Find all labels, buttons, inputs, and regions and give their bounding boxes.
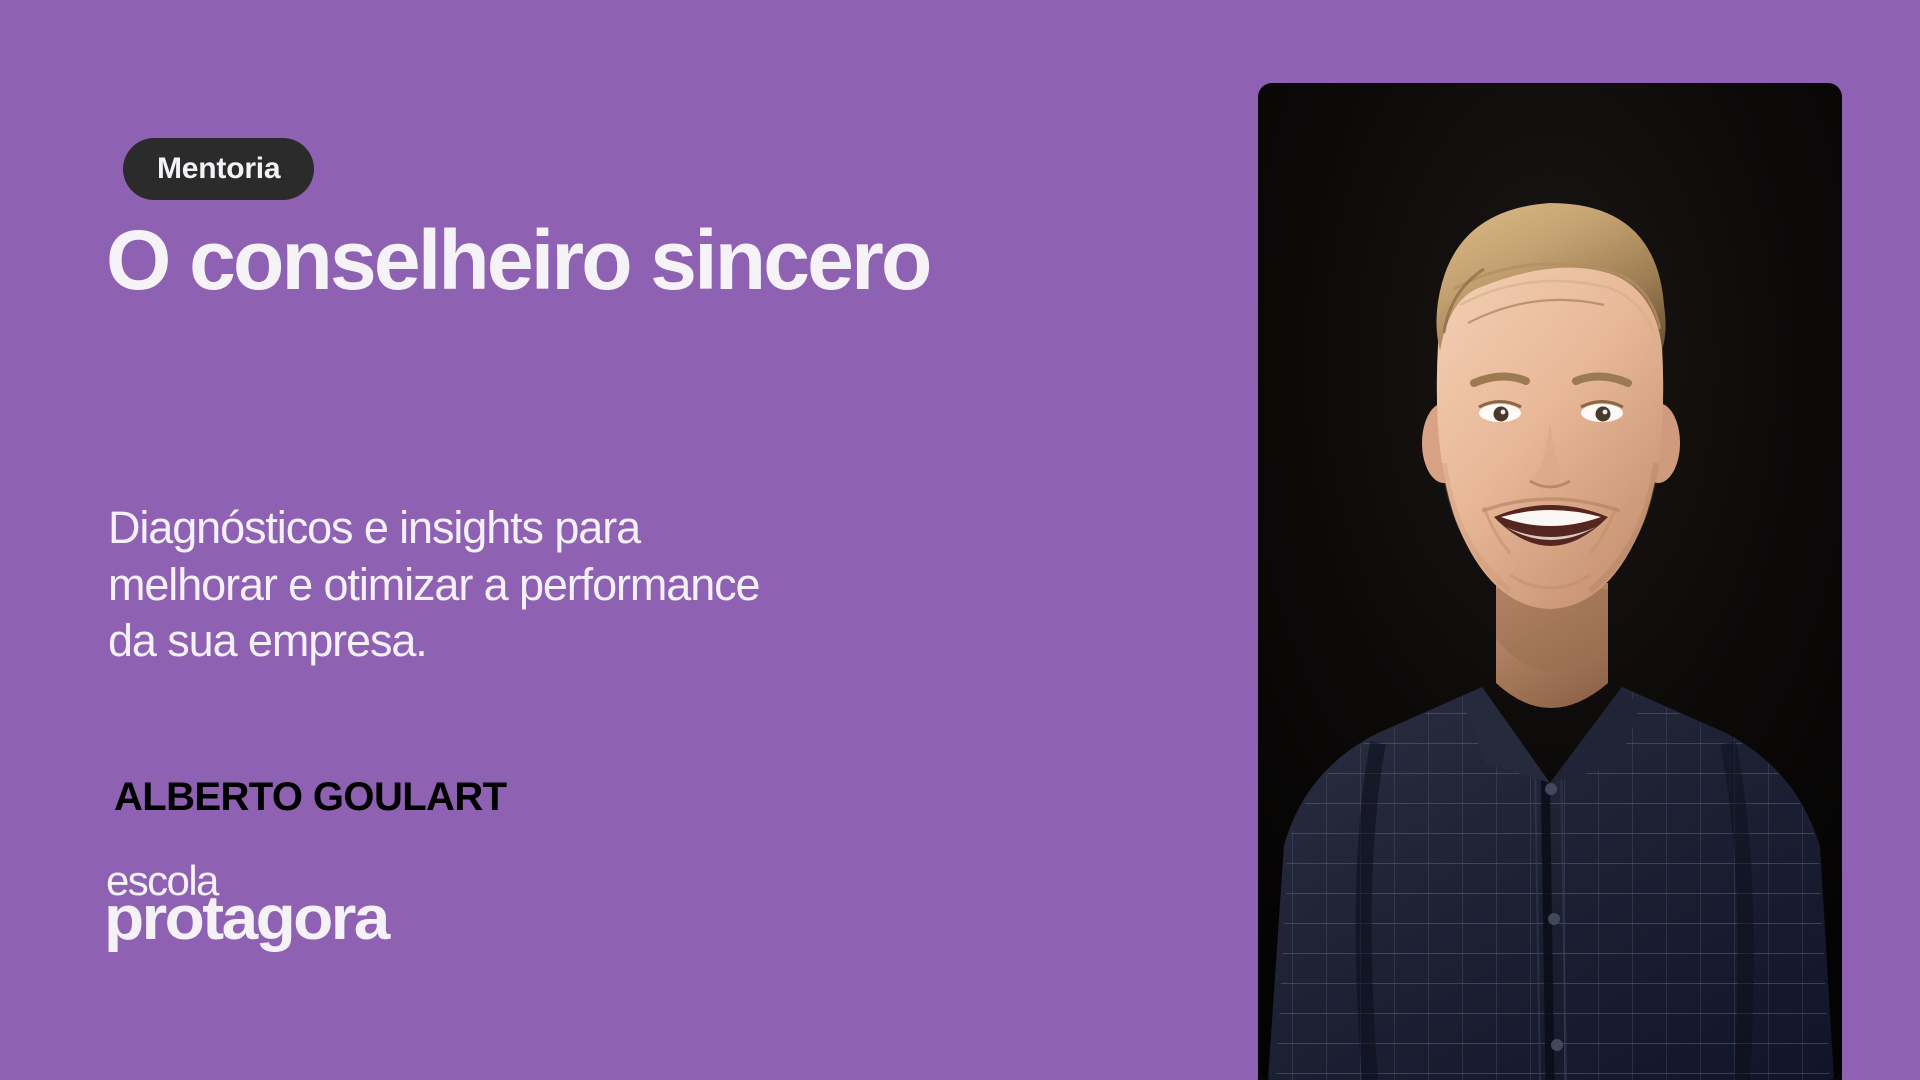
portrait-photo (1258, 83, 1842, 1080)
page-title: O conselheiro sincero (106, 216, 1106, 305)
presenter-name: ALBERTO GOULART (114, 775, 506, 820)
logo-word-protagora: protagora (104, 888, 388, 950)
brand-logo: escola protagora (104, 860, 524, 980)
subtitle-line-2: melhorar e otimizar a performance (108, 557, 1008, 614)
subtitle-line-3: da sua empresa. (108, 613, 1008, 670)
left-content-panel: Mentoria O conselheiro sincero Diagnósti… (0, 0, 1180, 1080)
subtitle-text: Diagnósticos e insights para melhorar e … (108, 500, 1008, 670)
badge-label: Mentoria (157, 152, 280, 186)
mentoria-badge: Mentoria (123, 138, 314, 200)
subtitle-line-1: Diagnósticos e insights para (108, 500, 1008, 557)
speaker-photo-card (1258, 83, 1842, 1080)
presentation-slide: Mentoria O conselheiro sincero Diagnósti… (0, 0, 1920, 1080)
